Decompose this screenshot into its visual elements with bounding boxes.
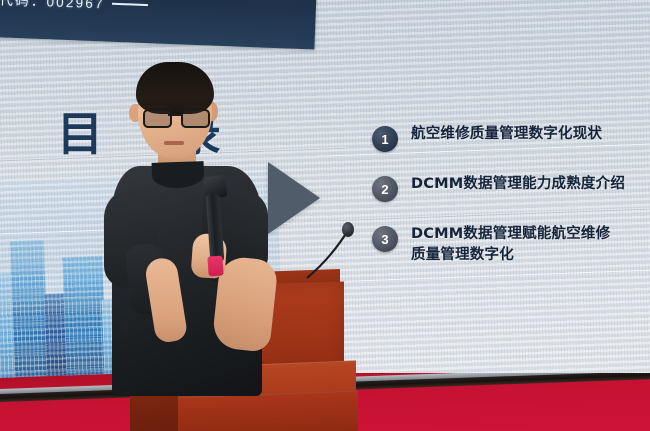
agenda-item-label: DCMM数据管理赋能航空维修 质量管理数字化	[411, 224, 610, 266]
list-item: 3 DCMM数据管理赋能航空维修 质量管理数字化	[372, 224, 642, 266]
slide-top-banner: TECHNOLOGY & TEST 股票代码：002967	[0, 0, 318, 50]
presenter-eyebrow-left	[143, 105, 165, 108]
status-badge: 1	[372, 126, 398, 152]
list-item: 2 DCMM数据管理能力成熟度介绍	[372, 174, 642, 202]
mic-body	[206, 194, 225, 263]
agenda-item-line1: DCMM数据管理能力成熟度介绍	[411, 176, 625, 192]
agenda-item-label: 航空维修质量管理数字化现状	[411, 124, 602, 145]
agenda-item-line2: 质量管理数字化	[411, 245, 610, 266]
glasses-icon	[141, 109, 209, 125]
presenter-mouth	[164, 141, 184, 145]
glasses-bridge	[168, 114, 181, 116]
agenda-item-line1: 航空维修质量管理数字化现状	[411, 126, 602, 142]
agenda-item-line1: DCMM数据管理赋能航空维修	[411, 226, 610, 242]
agenda-item-label: DCMM数据管理能力成熟度介绍	[411, 174, 625, 195]
photo-canvas: TECHNOLOGY & TEST 股票代码：002967 目 录 1 航空维修…	[0, 0, 650, 431]
presenter-person	[98, 62, 278, 431]
list-item: 1 航空维修质量管理数字化现状	[372, 124, 642, 152]
glasses-lens-left	[143, 109, 172, 128]
glasses-lens-right	[181, 109, 210, 128]
gooseneck-mic-head	[342, 222, 354, 237]
mic-base	[207, 256, 223, 277]
status-badge: 3	[372, 226, 398, 252]
agenda-list: 1 航空维修质量管理数字化现状 2 DCMM数据管理能力成熟度介绍 3 DCMM…	[372, 124, 642, 288]
presenter-eyebrow-right	[184, 105, 206, 108]
handheld-microphone	[204, 176, 230, 278]
podium-gooseneck-microphone	[303, 208, 363, 282]
status-badge: 2	[372, 176, 398, 202]
banner-rule-right	[112, 3, 148, 6]
stock-code-text: 股票代码：002967	[0, 0, 105, 12]
